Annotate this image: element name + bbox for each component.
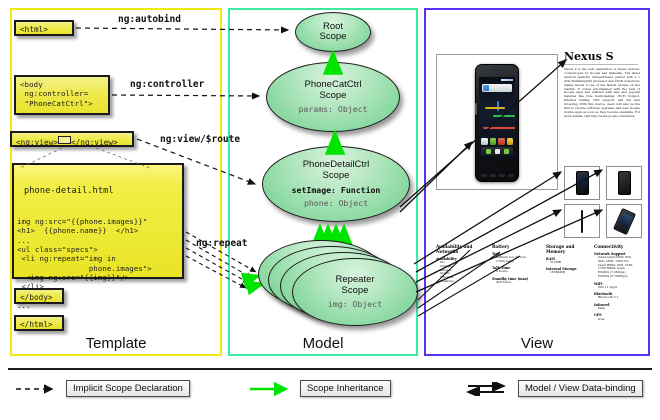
legend-item-implicit-scope: Implicit Scope Declaration bbox=[14, 380, 190, 397]
code-box-html-tag: <html> bbox=[14, 20, 74, 36]
phone-hardware-buttons bbox=[479, 171, 515, 179]
app-icon-3 bbox=[498, 138, 505, 145]
thumbnail-phone-back bbox=[618, 171, 631, 195]
spec-column-battery: Battery Type Lithium Ion (Li-Ion) (1500 … bbox=[492, 244, 542, 285]
angularjs-mvc-diagram: Template Model View <html> <body ng:cont… bbox=[0, 0, 660, 420]
view-thumbnail-2[interactable] bbox=[606, 166, 642, 200]
legend-label-implicit-scope: Implicit Scope Declaration bbox=[66, 380, 190, 397]
view-rendered-page: Nexus S Nexus S is the next generation o… bbox=[432, 22, 644, 330]
view-spec-table: Availability and Networks Availability M… bbox=[434, 244, 642, 322]
code-box-ngview-tag: <ng:view></ng:view> bbox=[10, 131, 134, 147]
scope-root-line2: Scope bbox=[320, 32, 347, 43]
legend-item-data-binding: Model / View Data-binding bbox=[466, 380, 643, 397]
wallpaper-stroke-yellow bbox=[485, 107, 505, 109]
phone-hero-image-frame bbox=[436, 54, 558, 190]
scope-phonecatctrl-line2: Scope bbox=[320, 91, 347, 102]
detail-file-name: phone-detail.html bbox=[14, 184, 182, 198]
spec-value-availability-6: Vodafone bbox=[436, 280, 484, 284]
phone-button-search bbox=[499, 174, 505, 177]
scope-phonedetailctrl-prop-phone: phone: Object bbox=[304, 198, 368, 208]
scope-phonecatctrl: PhoneCatCtrl Scope params: Object bbox=[266, 62, 400, 132]
app-icon-4 bbox=[507, 138, 514, 145]
spec-value-battery-type-2: (1500 mAh) bbox=[492, 260, 542, 264]
spec-value-wifi: 802.11 b/g/n bbox=[594, 286, 642, 290]
spec-column-availability: Availability and Networks Availability M… bbox=[436, 244, 484, 284]
spec-value-ram: 512MB bbox=[546, 261, 594, 265]
phone-status-bar bbox=[479, 77, 515, 82]
scope-repeater: Repeater Scope img: Object bbox=[292, 258, 418, 326]
arrow-label-ngview-route: ng:view/$route bbox=[160, 134, 240, 145]
ngview-open-tag: <ng:view> bbox=[16, 138, 58, 147]
code-box-end-html-tag: </html> bbox=[14, 315, 64, 331]
spec-value-network-6: HSUPA (5.76Mbps) bbox=[594, 275, 642, 279]
scope-phonedetailctrl-prop-setimage: setImage: Function bbox=[292, 185, 381, 195]
spec-heading-availability: Availability and Networks bbox=[436, 244, 484, 254]
phone-search-widget bbox=[482, 84, 512, 92]
double-arrow-icon bbox=[466, 382, 512, 396]
section-label-view: View bbox=[426, 335, 648, 352]
ngview-close-tag: </ng:view> bbox=[71, 138, 118, 147]
phone-button-home bbox=[508, 174, 514, 177]
legend-label-scope-inheritance: Scope Inheritance bbox=[300, 380, 391, 397]
scope-phonedetailctrl-line2: Scope bbox=[323, 171, 350, 182]
phone-tray bbox=[481, 147, 513, 156]
dashed-arrow-icon bbox=[14, 382, 60, 396]
legend-item-scope-inheritance: Scope Inheritance bbox=[248, 380, 391, 397]
scope-repeater-prop-img: img: Object bbox=[328, 299, 382, 309]
wallpaper-stroke-blue bbox=[497, 101, 499, 111]
scope-phonedetailctrl: PhoneDetailCtrl Scope setImage: Function… bbox=[262, 146, 410, 222]
view-article-body: Nexus S is the next generation of Nexus … bbox=[564, 68, 640, 119]
section-label-template: Template bbox=[12, 335, 220, 352]
section-label-model: Model bbox=[230, 335, 416, 352]
arrow-label-ngrepeat: ng:repeat bbox=[196, 238, 247, 249]
view-thumbnail-3[interactable] bbox=[564, 204, 600, 238]
spec-heading-connectivity: Connectivity bbox=[594, 244, 642, 249]
code-box-body-tag: <body ng:controller= "PhoneCatCtrl"> bbox=[14, 75, 110, 115]
scope-repeater-line1: Repeater bbox=[335, 275, 374, 286]
wallpaper-stroke-green bbox=[493, 115, 515, 117]
spec-value-gps: true bbox=[594, 318, 642, 322]
phone-app-icon-row bbox=[481, 138, 513, 145]
legend-divider bbox=[8, 368, 652, 370]
view-thumbnail-1[interactable] bbox=[564, 166, 600, 200]
scope-repeater-line2: Scope bbox=[342, 286, 369, 297]
wallpaper-stroke-red bbox=[483, 127, 515, 129]
phone-button-menu bbox=[490, 174, 496, 177]
phone-button-back bbox=[481, 174, 487, 177]
spec-column-connectivity: Connectivity Network Support Quad-band G… bbox=[594, 244, 642, 322]
app-icon-2 bbox=[490, 138, 497, 145]
thumbnail-phone-side bbox=[581, 210, 584, 233]
spec-value-internal-storage: 16384MB bbox=[546, 271, 594, 275]
tray-icon-apps bbox=[495, 149, 500, 154]
phone-device-render bbox=[475, 64, 519, 182]
tray-icon-phone bbox=[486, 149, 491, 154]
spec-value-battery-standby: 428 hours bbox=[492, 281, 542, 285]
spec-heading-battery: Battery bbox=[492, 244, 542, 249]
scope-phonecatctrl-prop-params: params: Object bbox=[298, 104, 367, 114]
scope-root: Root Scope bbox=[295, 12, 371, 52]
thumbnail-phone-front bbox=[576, 171, 589, 195]
tray-icon-browser bbox=[504, 149, 509, 154]
view-thumbnail-4[interactable] bbox=[606, 204, 642, 238]
spec-value-bluetooth: Bluetooth 2.1 bbox=[594, 296, 642, 300]
thumbnail-phone-angle bbox=[612, 207, 635, 234]
spec-heading-storage: Storage and Memory bbox=[546, 244, 594, 254]
code-box-end-body-tag: </body> bbox=[14, 288, 64, 304]
legend-label-data-binding: Model / View Data-binding bbox=[518, 380, 643, 397]
scope-phonedetailctrl-line1: PhoneDetailCtrl bbox=[303, 160, 370, 171]
app-icon-1 bbox=[481, 138, 488, 145]
phone-screen bbox=[479, 77, 515, 159]
arrow-label-controller: ng:controller bbox=[130, 79, 204, 90]
scope-phonecatctrl-line1: PhoneCatCtrl bbox=[304, 80, 361, 91]
spec-column-storage: Storage and Memory RAM 512MB Internal St… bbox=[546, 244, 594, 275]
spec-value-battery-talktime: 6 hours bbox=[492, 270, 542, 274]
phone-speaker bbox=[490, 69, 504, 71]
view-article-title: Nexus S bbox=[564, 50, 614, 63]
green-arrow-icon bbox=[248, 382, 294, 396]
phone-side-button bbox=[475, 103, 477, 115]
arrow-label-autobind: ng:autobind bbox=[118, 14, 181, 25]
spec-value-infrared: false bbox=[594, 307, 642, 311]
ngview-slot-placeholder bbox=[58, 136, 71, 144]
code-box-phone-detail: phone-detail.html img ng:src="{{phone.im… bbox=[12, 163, 184, 279]
view-article-divider bbox=[564, 64, 638, 65]
